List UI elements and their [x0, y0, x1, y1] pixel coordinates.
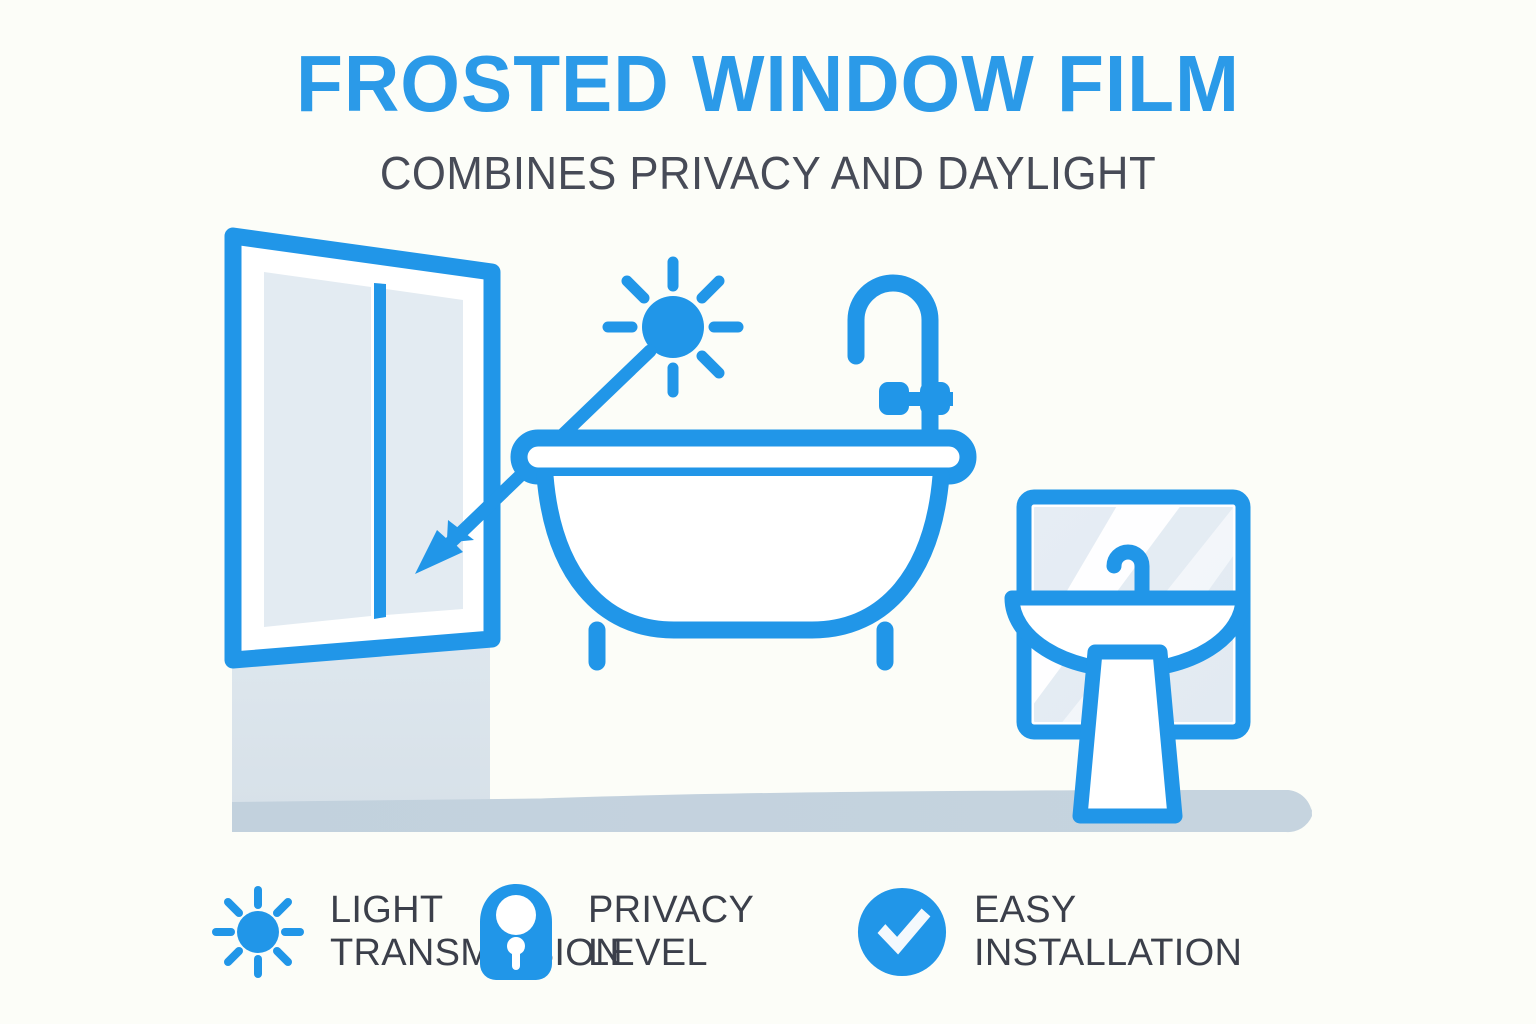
heading-block: FROSTED WINDOW FILM COMBINES PRIVACY AND…: [0, 44, 1536, 196]
check-circle-icon: [856, 882, 948, 982]
bathtub-body: [545, 476, 941, 630]
infographic-poster: FROSTED WINDOW FILM COMBINES PRIVACY AND…: [0, 0, 1536, 1024]
feature-light-transmission[interactable]: LIGHT TRANSMISSION: [0, 882, 470, 982]
bathroom-illustration: [0, 212, 1536, 862]
window-pane-left: [264, 272, 371, 627]
page-title: FROSTED WINDOW FILM: [31, 44, 1506, 124]
window-mullion: [374, 283, 386, 619]
bathtub-rim: [519, 438, 968, 476]
lock-icon: [470, 882, 562, 982]
page-subtitle: COMBINES PRIVACY AND DAYLIGHT: [38, 150, 1497, 196]
feature-label: PRIVACY LEVEL: [588, 889, 754, 976]
bathtub: [519, 283, 968, 662]
frosted-window: [233, 236, 492, 660]
feature-label: EASY INSTALLATION: [974, 889, 1242, 976]
sun-icon: [212, 882, 304, 982]
feature-easy-installation[interactable]: EASY INSTALLATION: [820, 882, 1280, 982]
feature-row: LIGHT TRANSMISSION PRIVACY LEVEL EASY: [0, 862, 1536, 1002]
sink-pedestal: [1080, 652, 1175, 816]
feature-privacy-level[interactable]: PRIVACY LEVEL: [470, 882, 820, 982]
